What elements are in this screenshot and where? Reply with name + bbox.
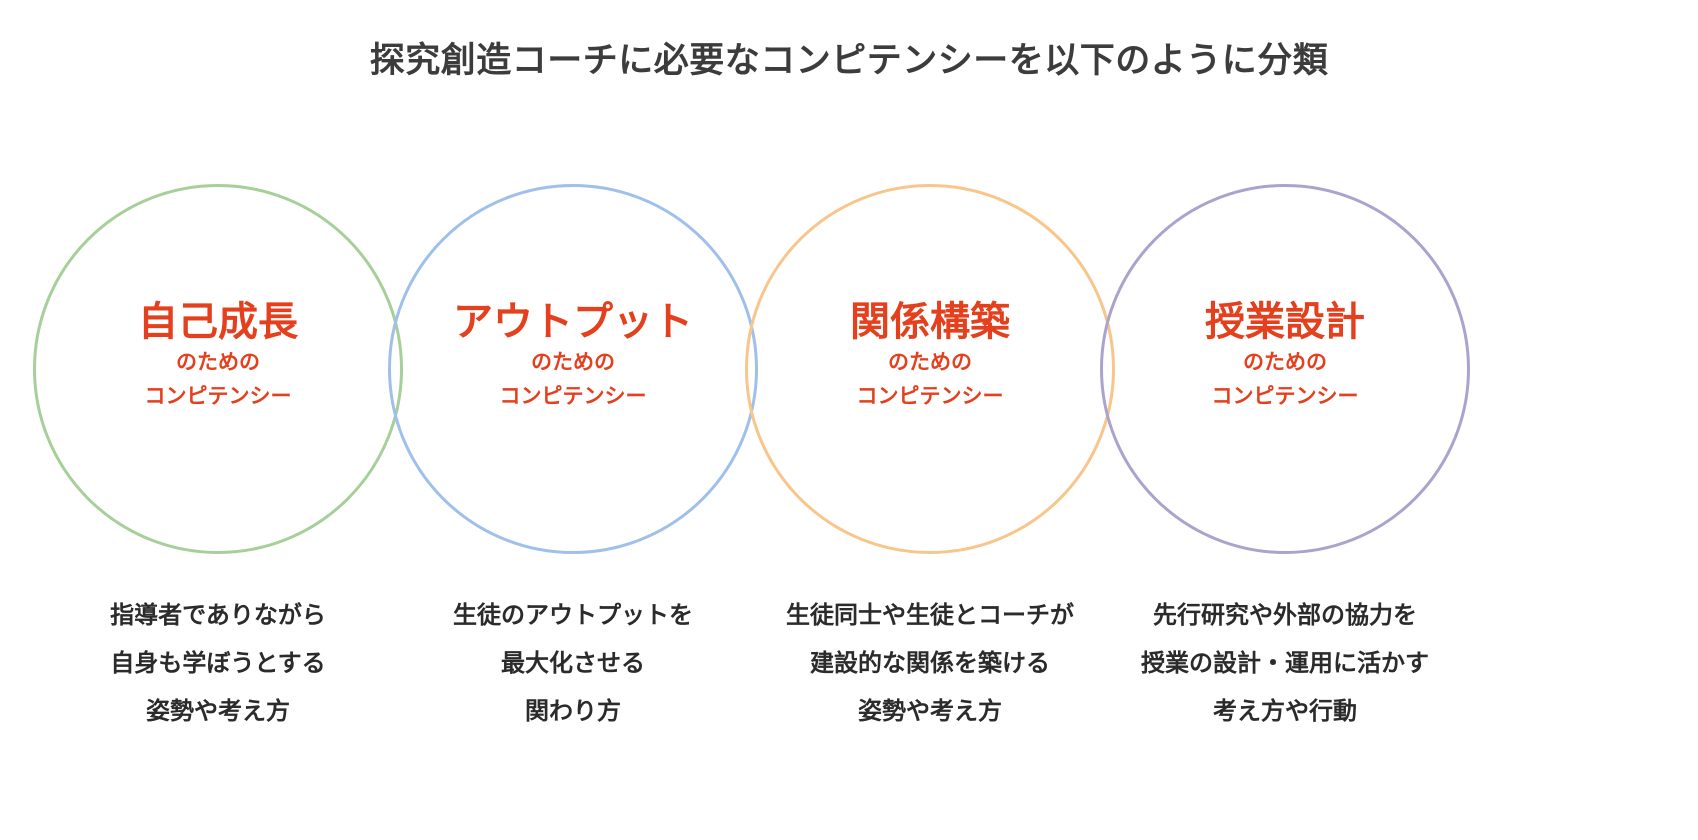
circle-heading-sub2: コンピテンシー <box>1079 380 1491 414</box>
circle-label-output: アウトプット のための コンピテンシー <box>367 300 779 414</box>
circle-heading-main: 自己成長 <box>12 300 424 346</box>
caption-line: 考え方や行動 <box>1071 688 1499 736</box>
competency-column-lesson-design: 授業設計 のための コンピテンシー 先行研究や外部の協力を 授業の設計・運用に活… <box>1079 0 1491 840</box>
circle-label-self-growth: 自己成長 のための コンピテンシー <box>12 300 424 414</box>
circle-heading-main: アウトプット <box>367 300 779 346</box>
circle-heading-sub1: のための <box>367 346 779 380</box>
caption-lesson-design: 先行研究や外部の協力を 授業の設計・運用に活かす 考え方や行動 <box>1071 592 1499 736</box>
circle-label-lesson-design: 授業設計 のための コンピテンシー <box>1079 300 1491 414</box>
circle-heading-main: 関係構築 <box>724 300 1136 346</box>
caption-line: 先行研究や外部の協力を <box>1071 592 1499 640</box>
circle-heading-sub2: コンピテンシー <box>367 380 779 414</box>
circle-label-relationship: 関係構築 のための コンピテンシー <box>724 300 1136 414</box>
circle-heading-sub1: のための <box>1079 346 1491 380</box>
slide-canvas: 探究創造コーチに必要なコンピテンシーを以下のように分類 自己成長 のための コン… <box>0 0 1698 840</box>
circle-heading-sub2: コンピテンシー <box>724 380 1136 414</box>
caption-line: 授業の設計・運用に活かす <box>1071 640 1499 688</box>
circle-heading-main: 授業設計 <box>1079 300 1491 346</box>
circle-heading-sub1: のための <box>12 346 424 380</box>
circle-heading-sub1: のための <box>724 346 1136 380</box>
circle-heading-sub2: コンピテンシー <box>12 380 424 414</box>
competency-columns: 自己成長 のための コンピテンシー 指導者でありながら 自身も学ぼうとする 姿勢… <box>0 0 1698 840</box>
